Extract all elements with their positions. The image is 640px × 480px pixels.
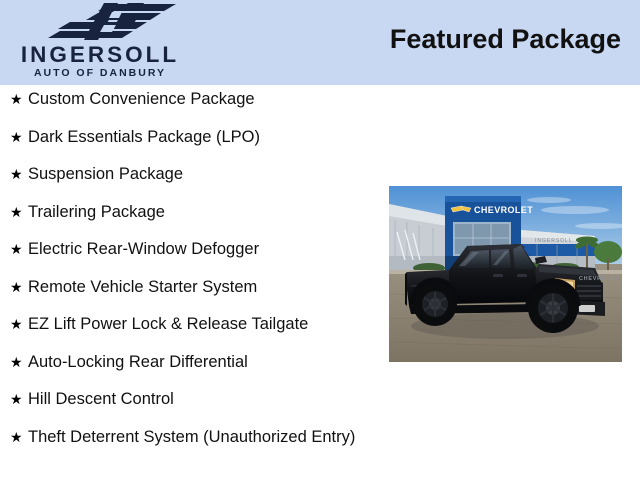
vehicle-photo: CHEVROLET INGERSOLL — [389, 186, 622, 362]
list-item-label: Theft Deterrent System (Unauthorized Ent… — [28, 426, 380, 450]
list-item-label: Remote Vehicle Starter System — [28, 276, 380, 300]
list-item: ★ Theft Deterrent System (Unauthorized E… — [0, 426, 380, 450]
star-bullet-icon: ★ — [10, 388, 28, 412]
brand-subwordmark: AUTO OF DANBURY — [0, 68, 200, 79]
star-bullet-icon: ★ — [10, 88, 28, 112]
star-bullet-icon: ★ — [10, 201, 28, 225]
ingersoll-wings-monogram-icon — [48, 2, 178, 42]
list-item: ★ Hill Descent Control — [0, 388, 380, 412]
brand-logo: INGERSOLL AUTO OF DANBURY — [0, 0, 200, 85]
list-item-label: EZ Lift Power Lock & Release Tailgate — [28, 313, 380, 337]
feature-list: ★ Custom Convenience Package ★ Dark Esse… — [0, 88, 380, 463]
star-bullet-icon: ★ — [10, 351, 28, 375]
list-item-label: Trailering Package — [28, 201, 380, 225]
list-item: ★ Trailering Package — [0, 201, 380, 225]
header-band: INGERSOLL AUTO OF DANBURY Featured Packa… — [0, 0, 640, 85]
list-item-label: Hill Descent Control — [28, 388, 380, 412]
list-item-label: Suspension Package — [28, 163, 380, 187]
svg-text:INGERSOLL: INGERSOLL — [535, 238, 573, 244]
list-item-label: Dark Essentials Package (LPO) — [28, 126, 380, 150]
svg-text:CHEVROLET: CHEVROLET — [474, 205, 533, 215]
svg-text:CHEVROLET: CHEVROLET — [579, 276, 619, 282]
star-bullet-icon: ★ — [10, 276, 28, 300]
list-item-label: Electric Rear-Window Defogger — [28, 238, 380, 262]
page-title: Featured Package — [390, 23, 621, 55]
list-item: ★ Auto-Locking Rear Differential — [0, 351, 380, 375]
star-bullet-icon: ★ — [10, 426, 28, 450]
list-item: ★ Dark Essentials Package (LPO) — [0, 126, 380, 150]
star-bullet-icon: ★ — [10, 163, 28, 187]
star-bullet-icon: ★ — [10, 313, 28, 337]
brand-wordmark: INGERSOLL — [0, 44, 200, 67]
star-bullet-icon: ★ — [10, 126, 28, 150]
list-item: ★ EZ Lift Power Lock & Release Tailgate — [0, 313, 380, 337]
list-item-label: Auto-Locking Rear Differential — [28, 351, 380, 375]
star-bullet-icon: ★ — [10, 238, 28, 262]
list-item: ★ Suspension Package — [0, 163, 380, 187]
list-item: ★ Remote Vehicle Starter System — [0, 276, 380, 300]
list-item-label: Custom Convenience Package — [28, 88, 380, 112]
list-item: ★ Custom Convenience Package — [0, 88, 380, 112]
list-item: ★ Electric Rear-Window Defogger — [0, 238, 380, 262]
